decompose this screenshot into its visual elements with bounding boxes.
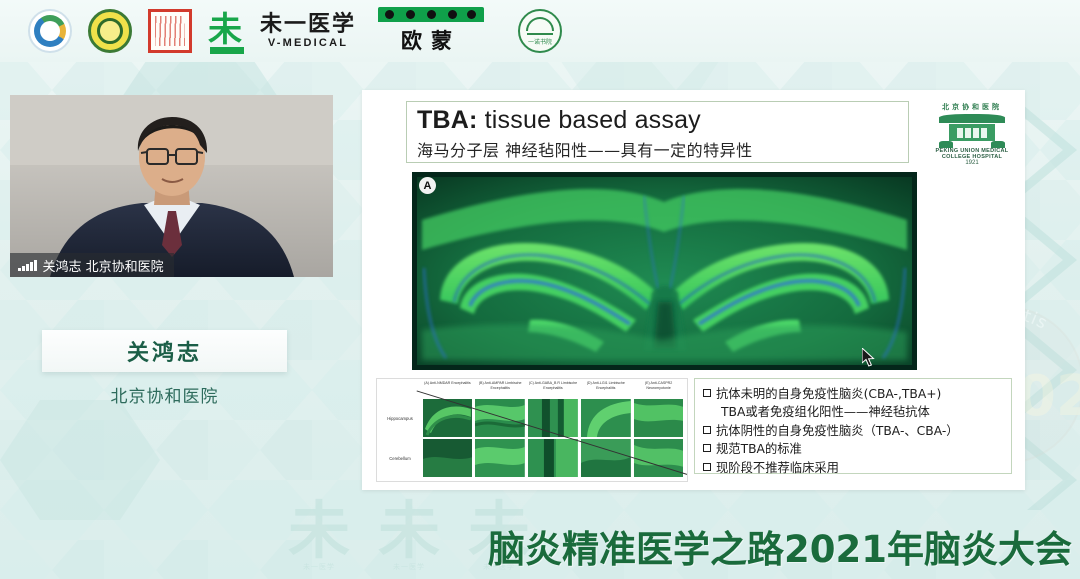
v-medical-en-label: V-MEDICAL	[260, 37, 356, 49]
panel-cell	[528, 439, 578, 477]
wei-glyph-text: 未	[208, 11, 248, 49]
bullet-text: 抗体未明的自身免疫性脑炎(CBA-,TBA+)	[716, 385, 941, 403]
panel-row-cerebellum: Cerebellum	[379, 438, 685, 478]
video-name-label: 关鸿志 北京协和医院	[10, 253, 174, 277]
speaker-organization-text: 北京协和医院	[42, 382, 287, 407]
panel-cell	[423, 399, 473, 437]
bullet-item: 抗体阴性的自身免疫性脑炎（TBA-、CBA-）	[703, 422, 1003, 440]
conference-banner: 脑炎精准医学之路2021年脑炎大会	[0, 491, 1080, 579]
logo-euroimmun: 欧蒙	[378, 7, 484, 55]
panel-col-header: (A) Anti-NMDAR Encephalitis	[421, 381, 474, 397]
slide-subtitle: 海马分子层 神经毡阳性——具有一定的特异性	[417, 137, 898, 161]
panel-col-header: (E) Anti-CASPR2 Neuromyotonie	[632, 381, 685, 397]
panel-column-headers: (A) Anti-NMDAR Encephalitis (B) Anti-AMP…	[421, 381, 685, 397]
bullet-text: 现阶段不推荐临床采用	[716, 459, 839, 477]
mouse-cursor	[862, 348, 876, 368]
micrograph-panel-tag: A	[419, 177, 436, 194]
v-medical-cn-label: 未一医学	[260, 13, 356, 36]
panel-row-label: Cerebellum	[379, 456, 421, 461]
panel-cell	[634, 439, 684, 477]
slide-title-main: TBA:	[417, 106, 478, 134]
video-label-text: 关鸿志 北京协和医院	[43, 256, 164, 275]
panel-cell	[475, 399, 525, 437]
panel-row-hippocampus: Hippocampus	[379, 398, 685, 438]
presentation-slide[interactable]: TBA: tissue based assay 海马分子层 神经毡阳性——具有一…	[362, 90, 1025, 490]
conference-banner-text: 脑炎精准医学之路2021年脑炎大会	[488, 519, 1072, 573]
signal-bars-icon	[18, 260, 37, 271]
hospital-emblem-label: 一诺书院	[528, 37, 552, 46]
bullet-text: 规范TBA的标准	[716, 440, 802, 458]
pumch-building-icon	[939, 114, 1005, 148]
panel-cell	[475, 439, 525, 477]
speaker-name-plate: 关鸿志	[42, 330, 287, 372]
slide-bullet-list: 抗体未明的自身免疫性脑炎(CBA-,TBA+) TBA或者免疫组化阳性——神经毡…	[694, 378, 1012, 474]
bullet-item: 抗体未明的自身免疫性脑炎(CBA-,TBA+)	[703, 385, 1003, 403]
antibody-panel-figure: (A) Anti-NMDAR Encephalitis (B) Anti-AMP…	[376, 378, 688, 482]
slide-title-box: TBA: tissue based assay 海马分子层 神经毡阳性——具有一…	[406, 101, 909, 163]
logo-hospital-emblem: 一诺书院	[518, 9, 562, 53]
slide-title: TBA: tissue based assay	[417, 106, 898, 134]
pumch-cn-label: 北京协和医院	[929, 102, 1015, 112]
euroimmun-cn-label: 欧蒙	[378, 25, 484, 55]
pumch-year: 1921	[929, 160, 1015, 166]
wei-glyph-icon: 未	[208, 11, 248, 51]
panel-col-header: (B) Anti-AMPAR Limbische Encephalitis	[474, 381, 527, 397]
bullet-square-icon	[703, 444, 711, 452]
hippocampus-micrograph: A	[412, 172, 917, 370]
logo-red-seal-emblem	[148, 9, 192, 53]
panel-cell	[581, 399, 631, 437]
speaker-video-tile[interactable]: 关鸿志 北京协和医院	[10, 95, 333, 277]
panel-col-header: (C) Anti-GABA_B R Limbische Encephalitis	[527, 381, 580, 397]
bullet-square-icon	[703, 426, 711, 434]
euroimmun-bar-icon	[378, 7, 484, 22]
speaker-video-image	[10, 95, 333, 277]
logo-cma-emblem	[28, 9, 72, 53]
logo-society-emblem	[88, 9, 132, 53]
panel-cell	[528, 399, 578, 437]
slide-title-rest: tissue based assay	[478, 106, 701, 134]
bullet-square-icon	[703, 389, 711, 397]
bullet-square-icon	[703, 463, 711, 471]
bullet-item: 规范TBA的标准	[703, 440, 1003, 458]
sponsor-logo-bar: 未 未一医学 V-MEDICAL 欧蒙 一诺书院	[0, 0, 1080, 62]
panel-col-header: (D) Anti-LGI1 Limbische Encephalitis	[579, 381, 632, 397]
panel-cell	[581, 439, 631, 477]
bullet-item-continuation: TBA或者免疫组化阳性——神经毡抗体	[703, 403, 1003, 421]
bullet-item: 现阶段不推荐临床采用	[703, 459, 1003, 477]
panel-cell	[423, 439, 473, 477]
panel-row-label: Hippocampus	[379, 416, 421, 421]
logo-v-medical: 未 未一医学 V-MEDICAL	[208, 11, 356, 51]
bullet-text: TBA或者免疫组化阳性——神经毡抗体	[721, 403, 930, 421]
speaker-name-text: 关鸿志	[127, 335, 202, 367]
pumch-hospital-logo: 北京协和医院 PEKING UNION MEDICAL COLLEGE HOSP…	[929, 102, 1015, 180]
bullet-text: 抗体阴性的自身免疫性脑炎（TBA-、CBA-）	[716, 422, 959, 440]
panel-cell	[634, 399, 684, 437]
